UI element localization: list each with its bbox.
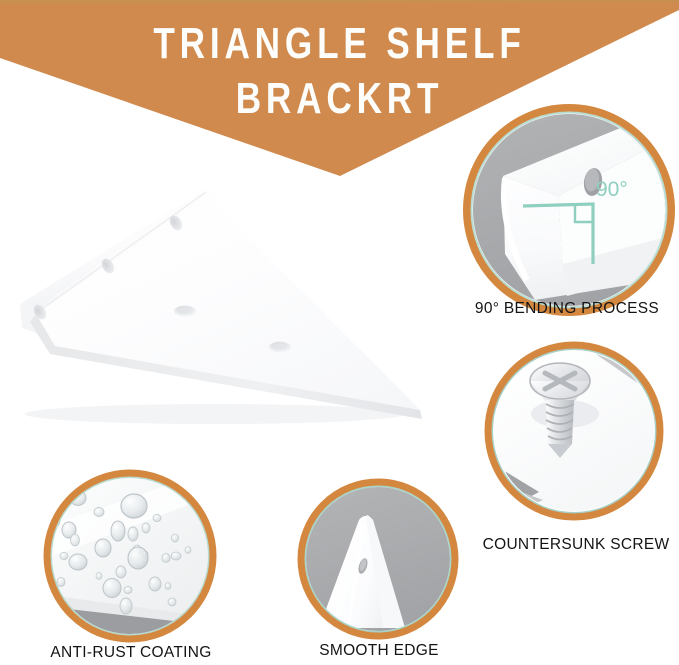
edge-callout-label: SMOOTH EDGE bbox=[277, 642, 481, 660]
screw-callout-label: COUNTERSUNK SCREW bbox=[473, 536, 679, 554]
edge-callout-circle bbox=[297, 478, 459, 640]
product-shadow bbox=[25, 404, 405, 424]
callout-smooth-edge: SMOOTH EDGE bbox=[297, 478, 461, 665]
callout-anti-rust-coating: ANTI-RUST COATING bbox=[42, 468, 220, 665]
rust-callout-circle bbox=[42, 468, 218, 644]
rust-callout-label: ANTI-RUST COATING bbox=[28, 644, 234, 662]
headline-line-1: TRIANGLE SHELF bbox=[68, 22, 611, 66]
plate-hole-1-bore bbox=[179, 307, 191, 312]
bending-callout-circle: 90° bbox=[463, 104, 675, 316]
callout-bending-process: 90° 90° BENDING PROCESS bbox=[463, 104, 679, 334]
product-infographic: TRIANGLE SHELF BRACKRT bbox=[0, 0, 679, 665]
plate-hole-2-bore bbox=[274, 343, 286, 348]
product-image-triangle-bracket bbox=[0, 170, 450, 435]
angle-marker-text-90: 90° bbox=[596, 178, 628, 201]
bending-callout-label: 90° BENDING PROCESS bbox=[459, 300, 675, 318]
callout-countersunk-screw: COUNTERSUNK SCREW bbox=[483, 340, 669, 565]
screw-callout-circle bbox=[483, 340, 665, 522]
